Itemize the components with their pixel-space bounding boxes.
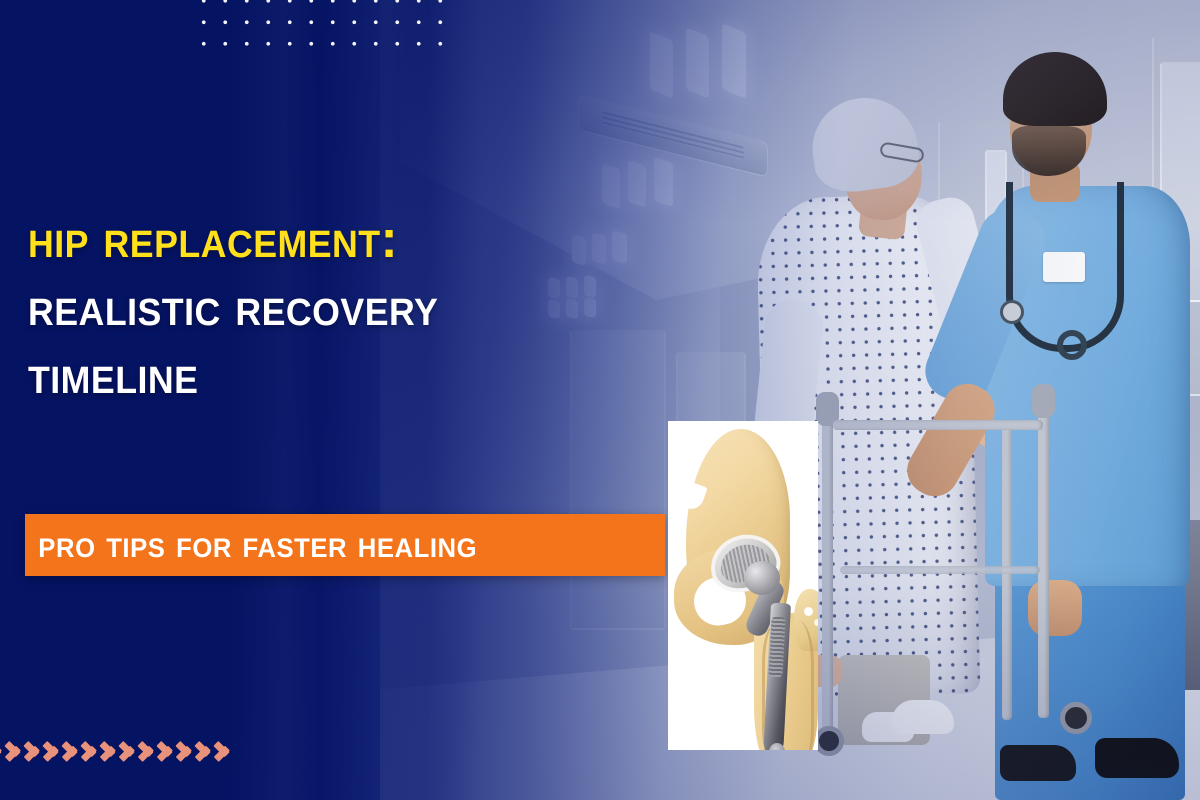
- hip-implant-illustration: [668, 421, 818, 750]
- page-title: Hip Replacement: Realistic Recovery Time…: [28, 212, 678, 416]
- trochanter-highlight: [804, 607, 813, 616]
- chevron-icon: [176, 734, 195, 768]
- headline-line-3: Timeline: [28, 348, 639, 402]
- chevron-icon: [119, 734, 138, 768]
- chevron-icon: [100, 734, 119, 768]
- chevron-icon: [81, 734, 100, 768]
- chevron-icon: [43, 734, 62, 768]
- chevron-icon: [214, 734, 233, 768]
- chevron-icon: [157, 734, 176, 768]
- chevron-icon: [138, 734, 157, 768]
- dot-grid-decoration: [193, 0, 455, 58]
- ribbon-label: Pro Tips for Faster Healing: [25, 524, 477, 567]
- hip-replacement-banner: Hip Replacement: Realistic Recovery Time…: [0, 0, 1200, 800]
- trochanter-highlight: [814, 619, 818, 626]
- chevron-icon: [62, 734, 81, 768]
- femoral-head-ball: [744, 561, 780, 595]
- chevron-icon: [24, 734, 43, 768]
- subtitle-ribbon: Pro Tips for Faster Healing: [25, 514, 665, 576]
- headline-line-1: Hip Replacement:: [28, 212, 639, 266]
- chevron-icon: [195, 734, 214, 768]
- chevron-arrow-row: [0, 728, 233, 774]
- headline-line-2: Realistic Recovery: [28, 280, 639, 334]
- chevron-icon: [5, 734, 24, 768]
